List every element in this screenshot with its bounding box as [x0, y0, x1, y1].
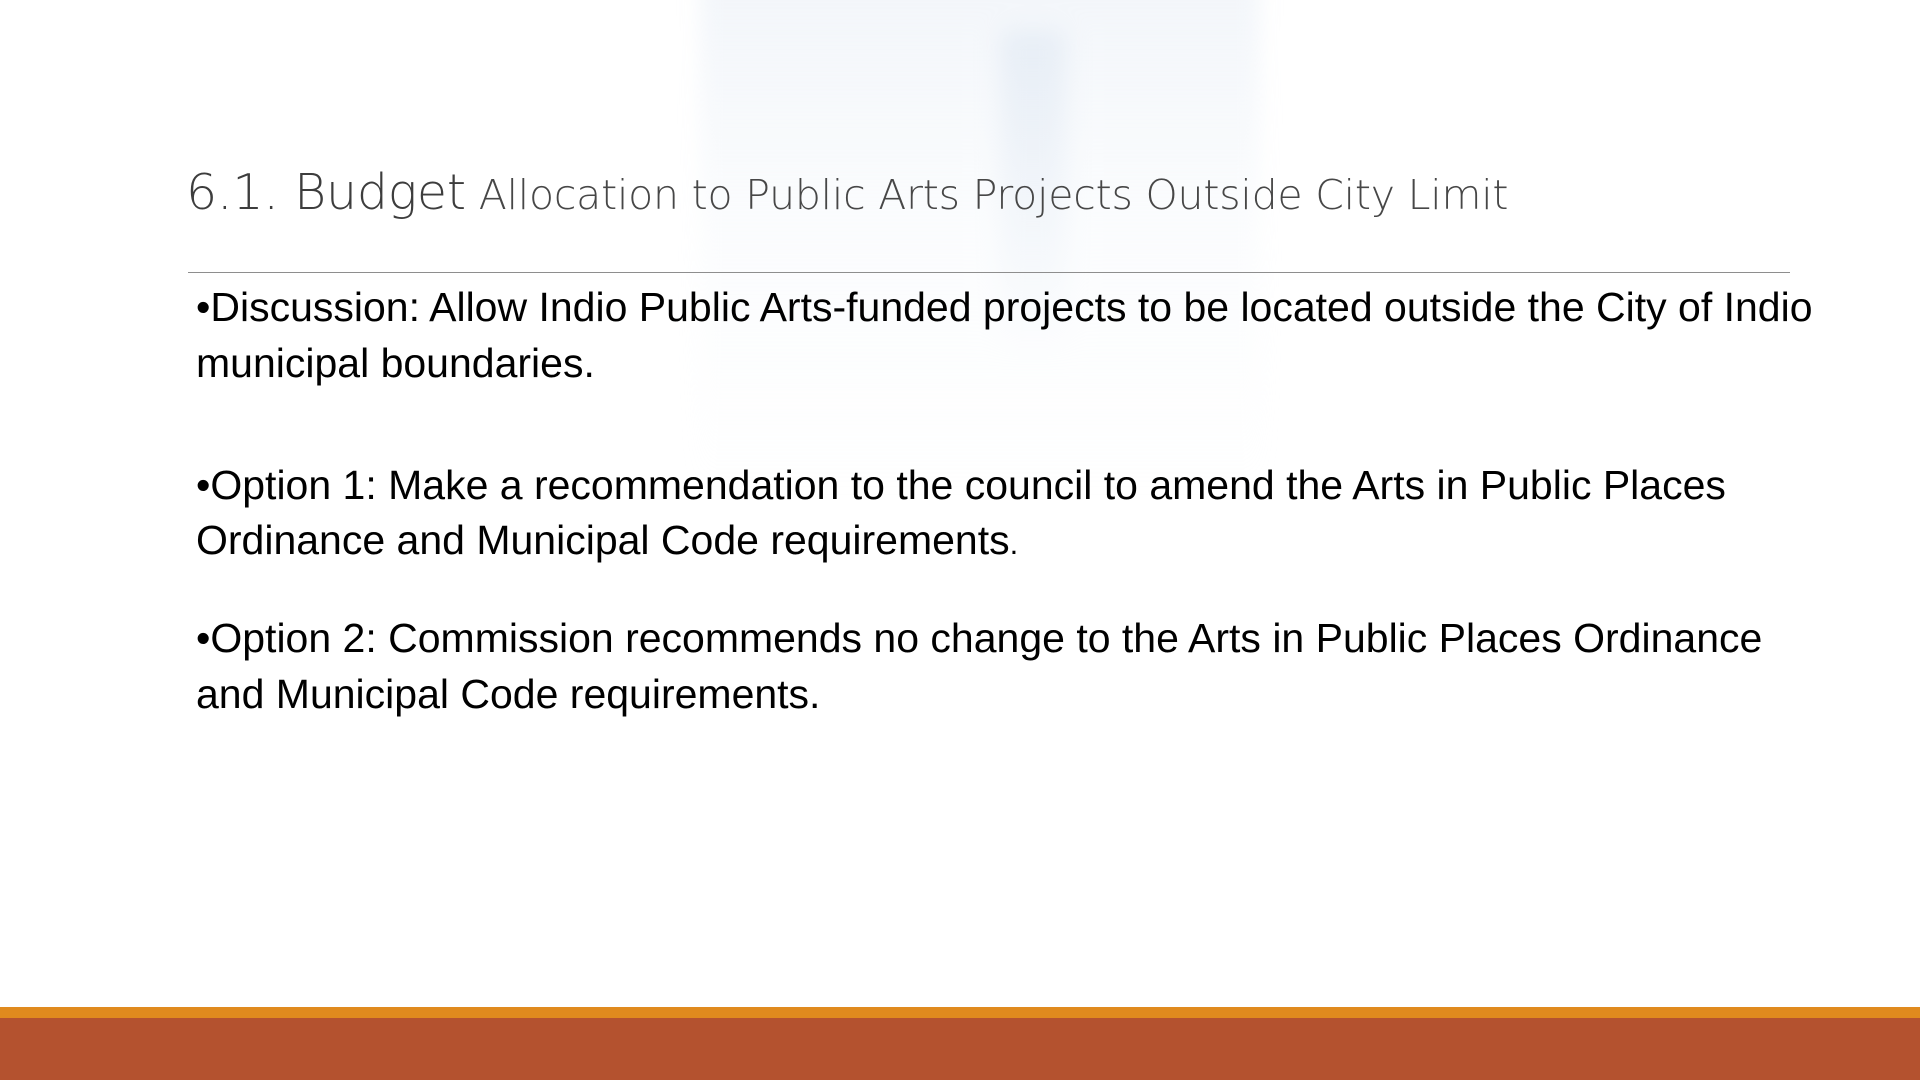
- spacer: [196, 569, 1816, 611]
- title-line: 6.1. Budget Allocation to Public Arts Pr…: [186, 168, 1796, 217]
- bullet-item-option-2: •Option 2: Commission recommends no chan…: [196, 611, 1816, 723]
- title-remainder: Allocation to Public Arts Projects Outsi…: [466, 171, 1508, 219]
- slide-body: •Discussion: Allow Indio Public Arts-fun…: [196, 280, 1816, 723]
- bullet-marker-icon: •: [196, 462, 210, 508]
- spacer: [196, 392, 1816, 458]
- footer-accent-terracotta-bar: [0, 1018, 1920, 1080]
- bullet-trailing-period: .: [1010, 526, 1019, 561]
- slide-title: 6.1. Budget Allocation to Public Arts Pr…: [186, 168, 1796, 217]
- bullet-marker-icon: •: [196, 615, 210, 661]
- bullet-item-option-1: •Option 1: Make a recommendation to the …: [196, 458, 1816, 570]
- presentation-slide: 6.1. Budget Allocation to Public Arts Pr…: [0, 0, 1920, 1080]
- title-divider: [188, 272, 1790, 273]
- footer-accent-amber-bar: [0, 1007, 1920, 1018]
- bullet-text: Option 1: Make a recommendation to the c…: [196, 462, 1726, 564]
- bullet-text: Option 2: Commission recommends no chang…: [196, 615, 1762, 717]
- bullet-item-discussion: •Discussion: Allow Indio Public Arts-fun…: [196, 280, 1816, 392]
- bullet-text: Discussion: Allow Indio Public Arts-fund…: [196, 284, 1813, 386]
- bullet-marker-icon: •: [196, 284, 210, 330]
- title-emphasis: 6.1. Budget: [186, 164, 466, 221]
